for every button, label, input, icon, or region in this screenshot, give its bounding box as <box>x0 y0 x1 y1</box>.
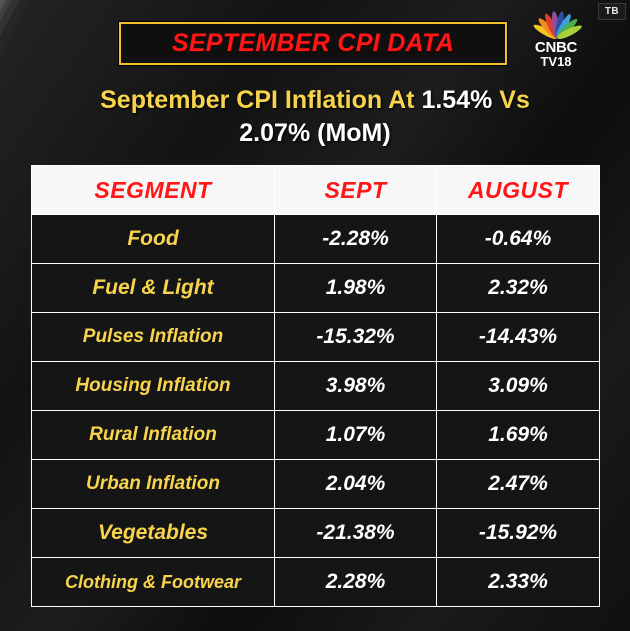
row-sept-vegetables: -21.38% <box>275 509 437 558</box>
row-sept-food: -2.28% <box>275 215 437 264</box>
broadcast-graphic: TB CNBC TV18 SEPTEMBER CPI DATA Septembe… <box>0 0 630 631</box>
table-row: Food -2.28% -0.64% <box>32 215 600 264</box>
corner-badge: TB <box>598 3 626 20</box>
row-august-clothing-footwear: 2.33% <box>437 558 600 607</box>
row-august-rural-inflation: 1.69% <box>437 411 600 460</box>
headline-value-sept: 1.54% <box>421 86 492 114</box>
table-row: Housing Inflation 3.98% 3.09% <box>32 362 600 411</box>
row-august-vegetables: -15.92% <box>437 509 600 558</box>
peacock-icon <box>534 10 578 40</box>
row-sept-pulses-inflation: -15.32% <box>275 313 437 362</box>
row-sept-urban-inflation: 2.04% <box>275 460 437 509</box>
row-sept-rural-inflation: 1.07% <box>275 411 437 460</box>
row-label-rural-inflation: Rural Inflation <box>32 411 275 460</box>
row-sept-fuel-light: 1.98% <box>275 264 437 313</box>
table-row: Rural Inflation 1.07% 1.69% <box>32 411 600 460</box>
headline-part-2: Vs <box>492 86 530 114</box>
page-title: September CPI Inflation At 1.54% Vs 2.07… <box>0 84 630 150</box>
table-row: Urban Inflation 2.04% 2.47% <box>32 460 600 509</box>
banner-title: SEPTEMBER CPI DATA <box>172 29 454 58</box>
row-label-pulses-inflation: Pulses Inflation <box>32 313 275 362</box>
table-header-row: SEGMENT SEPT AUGUST <box>32 166 600 215</box>
column-header-august: AUGUST <box>437 166 600 215</box>
headline-banner: SEPTEMBER CPI DATA <box>119 22 507 65</box>
row-sept-housing-inflation: 3.98% <box>275 362 437 411</box>
cnbc-tv18-logo: CNBC TV18 <box>520 10 592 72</box>
logo-text-tv18: TV18 <box>540 55 571 68</box>
row-label-vegetables: Vegetables <box>32 509 275 558</box>
headline-part-1: September CPI Inflation At <box>100 86 421 114</box>
row-august-pulses-inflation: -14.43% <box>437 313 600 362</box>
row-sept-clothing-footwear: 2.28% <box>275 558 437 607</box>
row-august-fuel-light: 2.32% <box>437 264 600 313</box>
table-row: Clothing & Footwear 2.28% 2.33% <box>32 558 600 607</box>
cpi-data-table: SEGMENT SEPT AUGUST Food -2.28% -0.64% F… <box>31 165 600 607</box>
row-label-fuel-light: Fuel & Light <box>32 264 275 313</box>
row-label-housing-inflation: Housing Inflation <box>32 362 275 411</box>
row-label-urban-inflation: Urban Inflation <box>32 460 275 509</box>
column-header-segment: SEGMENT <box>32 166 275 215</box>
headline-part-3: (MoM) <box>310 119 391 147</box>
table-row: Pulses Inflation -15.32% -14.43% <box>32 313 600 362</box>
row-august-housing-inflation: 3.09% <box>437 362 600 411</box>
row-label-food: Food <box>32 215 275 264</box>
row-august-urban-inflation: 2.47% <box>437 460 600 509</box>
column-header-sept: SEPT <box>275 166 437 215</box>
logo-text-cnbc: CNBC <box>535 41 577 55</box>
table-row: Fuel & Light 1.98% 2.32% <box>32 264 600 313</box>
row-august-food: -0.64% <box>437 215 600 264</box>
headline-value-prev: 2.07% <box>239 119 310 147</box>
table-row: Vegetables -21.38% -15.92% <box>32 509 600 558</box>
row-label-clothing-footwear: Clothing & Footwear <box>32 558 275 607</box>
